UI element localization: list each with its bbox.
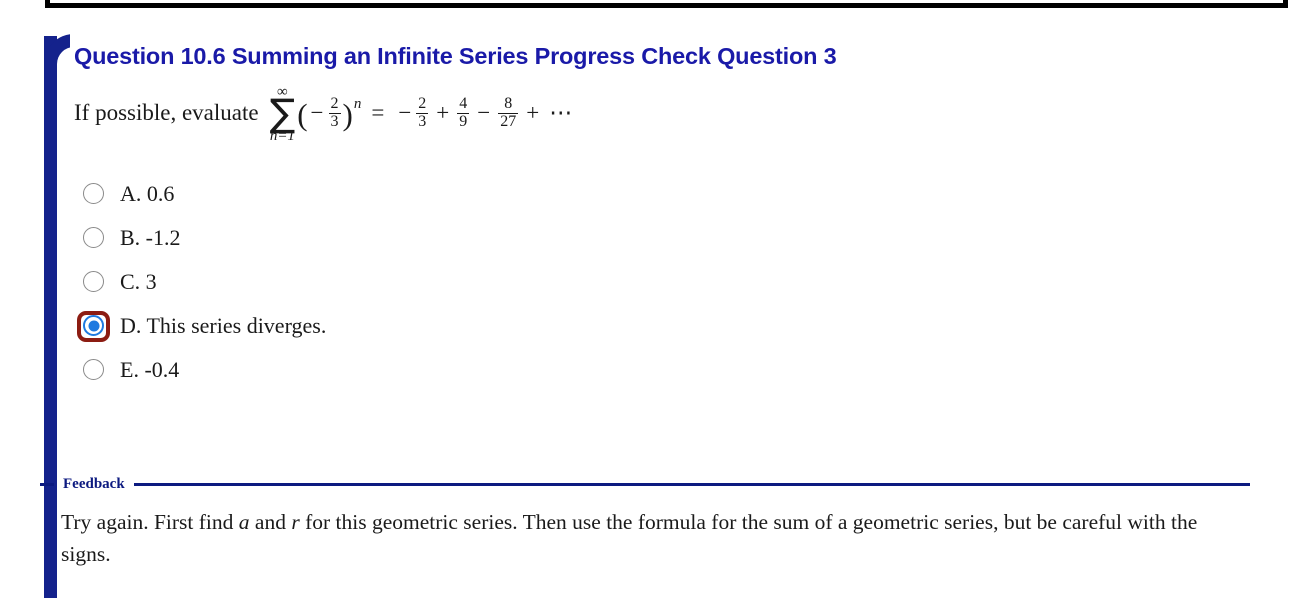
fraction-numerator: 8 (502, 96, 514, 113)
radio-button-c[interactable] (83, 271, 104, 292)
option-row-e[interactable]: E. -0.4 (74, 353, 1264, 387)
fraction-term-2: 4 9 (457, 96, 469, 131)
equals-sign: = (371, 100, 384, 126)
feedback-legend: Feedback (54, 476, 134, 493)
radio-wrap-c[interactable] (74, 265, 120, 299)
feedback-var-a: a (239, 510, 250, 534)
page-title: Question 10.6 Summing an Infinite Series… (74, 44, 1264, 70)
fraction-denominator: 9 (457, 113, 469, 131)
fraction-denominator: 3 (416, 113, 428, 131)
option-label-e: E. -0.4 (120, 359, 179, 381)
top-frame-box (45, 0, 1288, 8)
radio-button-d[interactable] (83, 315, 104, 336)
radio-button-a[interactable] (83, 183, 104, 204)
prompt-lead-text: If possible, evaluate (74, 100, 259, 126)
fraction-denominator: 27 (498, 113, 518, 131)
radio-button-b[interactable] (83, 227, 104, 248)
sigma-icon: ∑ (270, 97, 296, 130)
fraction-term-1: 2 3 (416, 96, 428, 131)
answer-options-list: A. 0.6 B. -1.2 C. 3 D. This series diver… (74, 177, 1264, 387)
question-prompt: If possible, evaluate ∞ ∑ n=1 ( − 2 3 ) … (74, 84, 1264, 143)
feedback-section: Feedback Try again. First find a and r f… (40, 474, 1250, 571)
feedback-var-r: r (291, 510, 299, 534)
ellipsis: ⋯ (549, 100, 574, 126)
option-row-a[interactable]: A. 0.6 (74, 177, 1264, 211)
radio-wrap-a[interactable] (74, 177, 120, 211)
exponent-n: n (354, 96, 362, 113)
feedback-text-part1: Try again. First find (61, 510, 239, 534)
radio-wrap-b[interactable] (74, 221, 120, 255)
radio-wrap-d[interactable] (74, 309, 120, 343)
feedback-rule-left (40, 483, 54, 486)
fraction-numerator: 2 (329, 96, 341, 113)
option-label-b: B. -1.2 (120, 227, 181, 249)
option-row-d[interactable]: D. This series diverges. (74, 309, 1264, 343)
radio-button-e[interactable] (83, 359, 104, 380)
math-minus-sign: − (311, 100, 324, 126)
option-row-c[interactable]: C. 3 (74, 265, 1264, 299)
plus-sign-1: + (436, 100, 449, 126)
fraction-term-3: 8 27 (498, 96, 518, 131)
term1-minus-sign: − (398, 100, 411, 126)
radio-wrap-e[interactable] (74, 353, 120, 387)
option-label-c: C. 3 (120, 271, 157, 293)
question-content: Question 10.6 Summing an Infinite Series… (74, 44, 1264, 397)
option-row-b[interactable]: B. -1.2 (74, 221, 1264, 255)
math-expression: ∞ ∑ n=1 ( − 2 3 ) n = − 2 3 + 4 9 (268, 84, 575, 143)
summation-operator: ∞ ∑ n=1 (270, 85, 296, 144)
fraction-numerator: 4 (457, 96, 469, 113)
feedback-rule-right (134, 483, 1250, 486)
fraction-denominator: 3 (329, 113, 341, 131)
fraction-numerator: 2 (416, 96, 428, 113)
sum-lower-limit: n=1 (270, 129, 295, 144)
minus-sign-2: − (477, 100, 490, 126)
fraction-two-thirds: 2 3 (329, 96, 341, 131)
feedback-text-part2: and (250, 510, 292, 534)
option-label-a: A. 0.6 (120, 183, 174, 205)
plus-sign-2: + (526, 100, 539, 126)
feedback-text: Try again. First find a and r for this g… (61, 507, 1241, 571)
option-label-d: D. This series diverges. (120, 315, 326, 337)
feedback-legend-row: Feedback (40, 474, 1250, 494)
